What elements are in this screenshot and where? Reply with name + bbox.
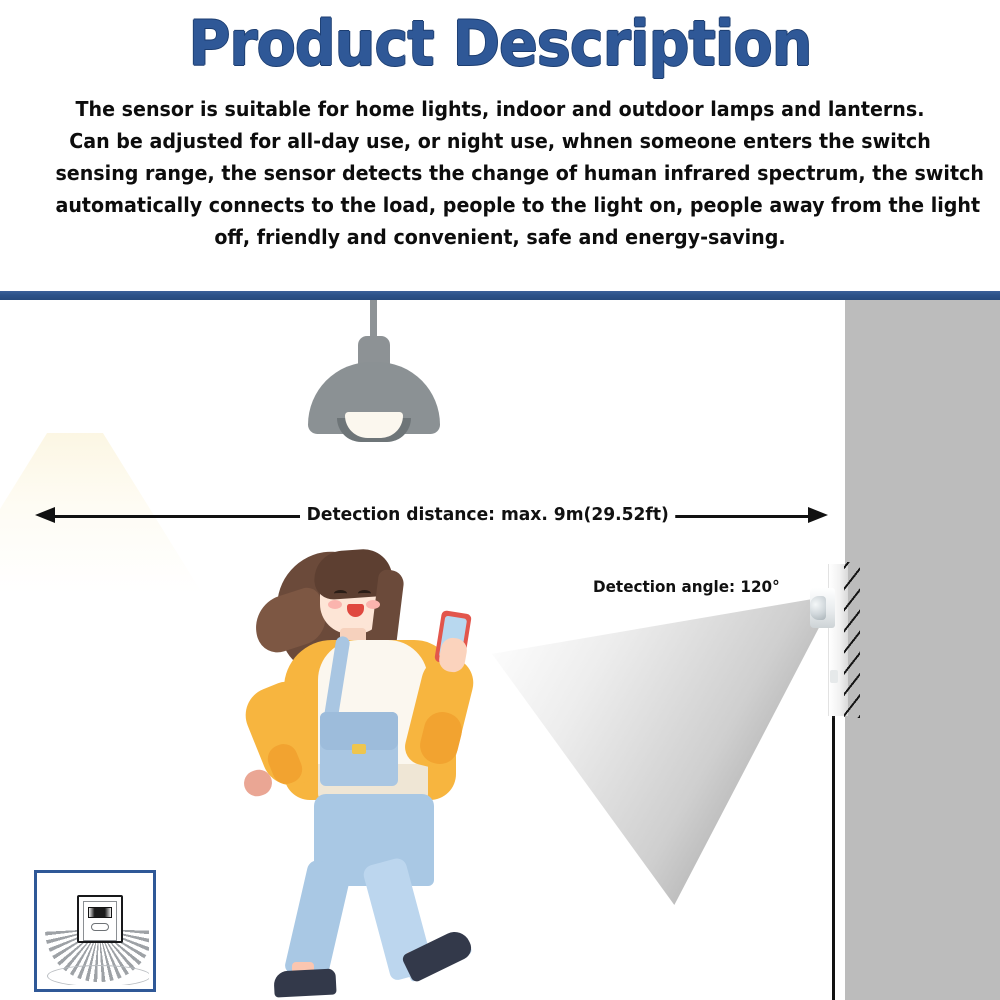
sensor-fan-beams-thumbnail — [34, 870, 156, 992]
bag-clasp — [352, 744, 366, 754]
lamp-light-cone — [0, 433, 202, 593]
page-title: Product Description — [40, 8, 960, 80]
intro-line: Can be adjusted for all-day use, or nigh… — [55, 125, 944, 157]
eye-right — [358, 590, 371, 597]
coverage-ellipse-icon — [47, 965, 149, 985]
section-divider — [0, 291, 1000, 300]
intro-line: off, friendly and convenient, safe and e… — [55, 221, 944, 253]
arrow-right-icon — [808, 507, 828, 523]
detection-distance-label: Detection distance: max. 9m(29.52ft) — [300, 501, 676, 529]
intro-line: sensing range, the sensor detects the ch… — [55, 157, 944, 189]
dimension-bar — [832, 718, 835, 1000]
lamp-cord — [370, 300, 377, 340]
intro-line: The sensor is suitable for home lights, … — [55, 93, 944, 125]
illustration-scene: Detection distance: max. 9m(29.52ft) Det… — [0, 300, 1000, 1000]
installation-height-dimension-upper — [832, 718, 835, 1000]
thumbnail-artwork — [41, 877, 149, 985]
sensor-lens-icon — [88, 907, 112, 918]
detection-angle-label: Detection angle: 120° — [593, 575, 780, 599]
walking-person-illustration — [236, 532, 526, 992]
cheek-right — [366, 600, 380, 609]
sensor-button — [830, 670, 838, 683]
wall-hatching — [844, 562, 860, 718]
intro-line: automatically connects to the load, peop… — [55, 189, 944, 221]
detection-angle-cone — [492, 595, 836, 905]
wall-panel — [845, 300, 1000, 1000]
header-section: Product Description The sensor is suitab… — [0, 0, 1000, 292]
motion-sensor-lens — [810, 596, 826, 620]
cheek-left — [328, 600, 342, 609]
sensor-knob-icon — [91, 923, 109, 931]
shoe-back — [273, 968, 336, 997]
intro-paragraph: The sensor is suitable for home lights, … — [55, 93, 944, 253]
eye-left — [334, 590, 347, 597]
